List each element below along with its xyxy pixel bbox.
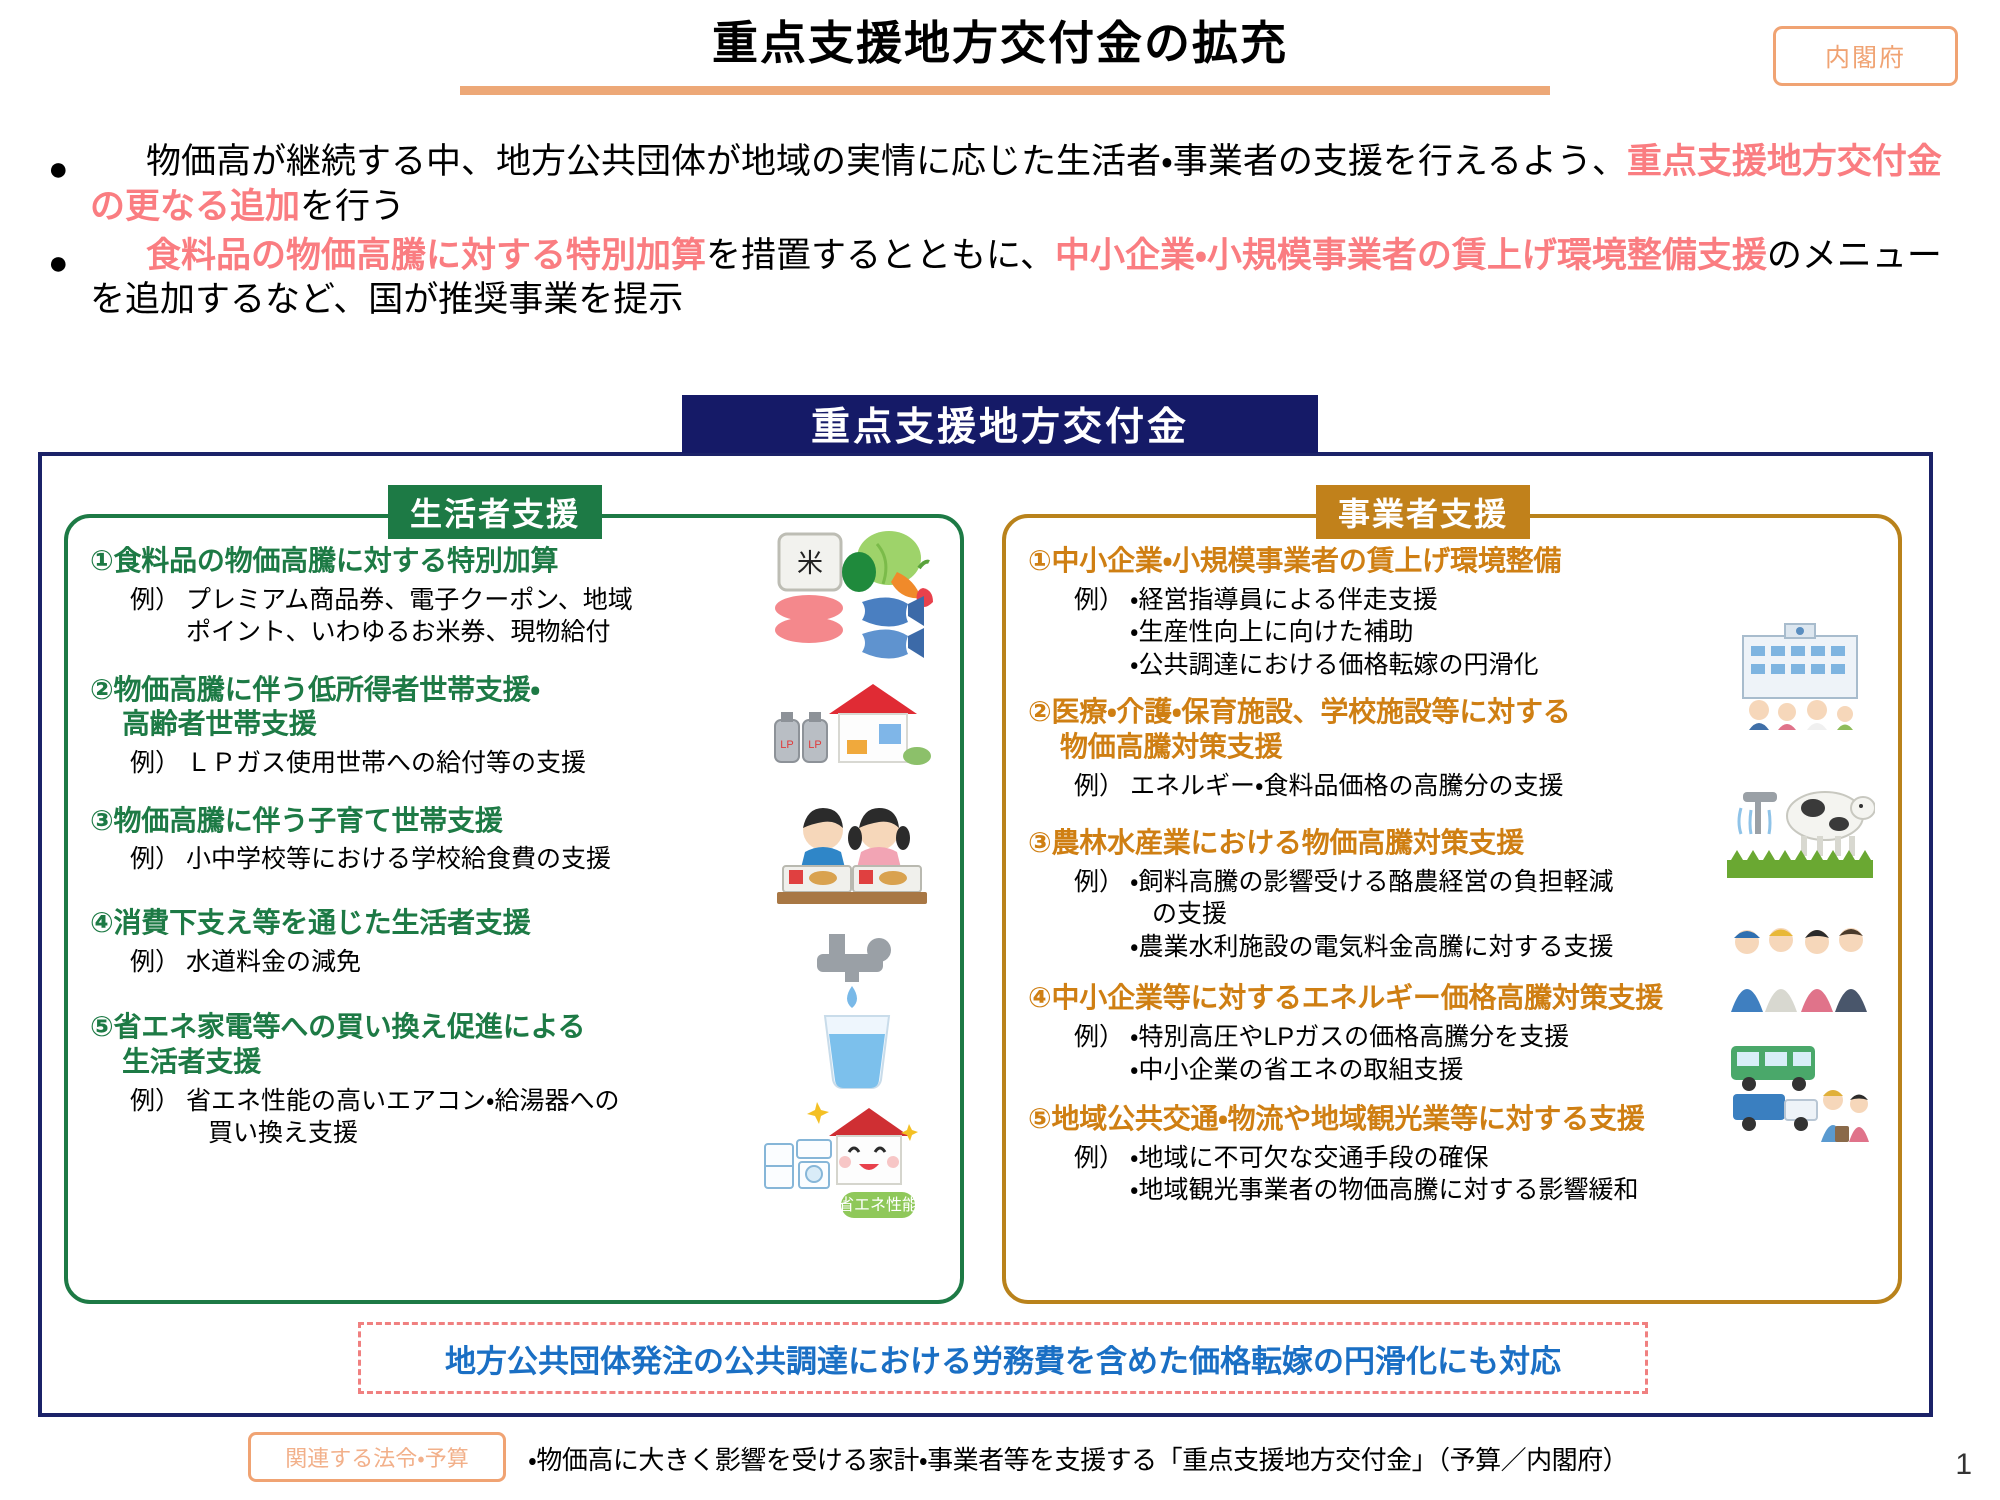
item-title-line1: ③物価高騰に伴う子育て世帯支援	[90, 805, 503, 836]
example-line: ＬＰガス使用世帯への給付等の支援	[186, 747, 586, 780]
column-business-support: 事業者支援 ①中小企業・小規模事業者の賃上げ環境整備 例） ・経営指導員による伴…	[1002, 514, 1902, 1304]
example-line: 小中学校等における学校給食費の支援	[186, 843, 611, 876]
column-body-left: ①食料品の物価高騰に対する特別加算 例） プレミアム商品券、電子クーポン、地域 …	[68, 518, 960, 1300]
example-lines: プレミアム商品券、電子クーポン、地域 ポイント、いわゆるお米券、現物給付	[180, 584, 633, 649]
bullet-item-1: ● 物価高が継続する中、地方公共団体が地域の実情に応じた生活者・事業者の支援を行…	[38, 140, 1968, 230]
example-line: ・経営指導員による伴走支援	[1130, 584, 1539, 617]
example-lines: ・地域に不可欠な交通手段の確保 ・地域観光事業者の物価高騰に対する影響緩和	[1124, 1142, 1639, 1207]
example-line: ポイント、いわゆるお米券、現物給付	[186, 616, 633, 649]
bullet-1-seg-1: 物価高が継続する中、地方公共団体が地域の実情に応じた生活者・事業者の支援を行える…	[146, 142, 1627, 181]
list-item: ②医療・介護・保育施設、学校施設等に対する 物価高騰対策支援 例） エネルギー・…	[1028, 695, 1878, 802]
list-item: ②物価高騰に伴う低所得者世帯支援・ 高齢者世帯支援 例） ＬＰガス使用世帯への給…	[90, 673, 940, 780]
bullet-2-seg-2: を措置するとともに、	[706, 236, 1055, 275]
page-title: 重点支援地方交付金の拡充	[0, 18, 2000, 69]
example-label: 例）	[90, 584, 180, 649]
example-line: ・公共調達における価格転嫁の円滑化	[1130, 649, 1539, 682]
item-title-line2: 高齢者世帯支援	[90, 707, 940, 742]
example-line: ・生産性向上に向けた補助	[1130, 616, 1539, 649]
list-item: ④中小企業等に対するエネルギー価格高騰対策支援 例） ・特別高圧やLPガスの価格…	[1028, 981, 1878, 1086]
bottom-note-box: 地方公共団体発注の公共調達における労務費を含めた価格転嫁の円滑化にも対応	[358, 1322, 1648, 1394]
example-line: 省エネ性能の高いエアコン・給湯器への	[186, 1085, 620, 1118]
example-line: ・農業水利施設の電気料金高騰に対する支援	[1130, 931, 1614, 964]
example-line: プレミアム商品券、電子クーポン、地域	[186, 584, 633, 617]
example-line: 買い換え支援	[186, 1117, 620, 1150]
example-block: 例） 省エネ性能の高いエアコン・給湯器への 買い換え支援	[90, 1085, 940, 1150]
bullet-text-1: 物価高が継続する中、地方公共団体が地域の実情に応じた生活者・事業者の支援を行える…	[90, 140, 1968, 230]
column-body-right: ①中小企業・小規模事業者の賃上げ環境整備 例） ・経営指導員による伴走支援 ・生…	[1006, 518, 1898, 1300]
column-tab-business-support: 事業者支援	[1316, 485, 1530, 539]
bullet-text-2: 食料品の物価高騰に対する特別加算を措置するとともに、中小企業・小規模事業者の賃上…	[90, 234, 1968, 324]
example-label: 例）	[1028, 584, 1124, 682]
list-item: ③物価高騰に伴う子育て世帯支援 例） 小中学校等における学校給食費の支援	[90, 804, 940, 876]
example-line: ・飼料高騰の影響受ける酪農経営の負担軽減	[1130, 866, 1614, 899]
column-resident-support: 生活者支援 ①食料品の物価高騰に対する特別加算 例） プレミアム商品券、電子クー…	[64, 514, 964, 1304]
example-line: ・中小企業の省エネの取組支援	[1130, 1054, 1569, 1087]
item-title-line1: ⑤地域公共交通・物流や地域観光業等に対する支援	[1028, 1103, 1645, 1134]
example-block: 例） プレミアム商品券、電子クーポン、地域 ポイント、いわゆるお米券、現物給付	[90, 584, 940, 649]
grant-outer-frame: 生活者支援 ①食料品の物価高騰に対する特別加算 例） プレミアム商品券、電子クー…	[38, 452, 1933, 1417]
example-lines: ＬＰガス使用世帯への給付等の支援	[180, 747, 586, 780]
item-title-line1: ②医療・介護・保育施設、学校施設等に対する	[1028, 696, 1571, 727]
example-lines: 小中学校等における学校給食費の支援	[180, 843, 611, 876]
bullet-2-seg-3: 中小企業・小規模事業者の賃上げ環境整備支援	[1055, 236, 1767, 275]
example-lines: 水道料金の減免	[180, 946, 361, 979]
example-label: 例）	[90, 1085, 180, 1150]
example-block: 例） ・経営指導員による伴走支援 ・生産性向上に向けた補助 ・公共調達における価…	[1028, 584, 1878, 682]
example-line: ・地域に不可欠な交通手段の確保	[1130, 1142, 1639, 1175]
bottom-note-text: 地方公共団体発注の公共調達における労務費を含めた価格転嫁の円滑化にも対応	[445, 1336, 1561, 1381]
list-item: ①中小企業・小規模事業者の賃上げ環境整備 例） ・経営指導員による伴走支援 ・生…	[1028, 544, 1878, 681]
item-title-line1: ④中小企業等に対するエネルギー価格高騰対策支援	[1028, 982, 1663, 1013]
item-title: ③農林水産業における物価高騰対策支援	[1028, 826, 1878, 861]
footer-text: ・物価高に大きく影響を受ける家計・事業者等を支援する「重点支援地方交付金」（予算…	[528, 1440, 1628, 1477]
example-block: 例） ・地域に不可欠な交通手段の確保 ・地域観光事業者の物価高騰に対する影響緩和	[1028, 1142, 1878, 1207]
item-title: ①食料品の物価高騰に対する特別加算	[90, 544, 940, 579]
title-underline-rule	[460, 86, 1550, 95]
example-lines: ・特別高圧やLPガスの価格高騰分を支援 ・中小企業の省エネの取組支援	[1124, 1021, 1569, 1086]
item-title-line1: ③農林水産業における物価高騰対策支援	[1028, 827, 1524, 858]
example-line: エネルギー・食料品価格の高騰分の支援	[1130, 770, 1564, 803]
item-title: ⑤地域公共交通・物流や地域観光業等に対する支援	[1028, 1102, 1878, 1137]
example-lines: 省エネ性能の高いエアコン・給湯器への 買い換え支援	[180, 1085, 620, 1150]
page-number: 1	[1955, 1448, 1972, 1482]
bullet-1-seg-3: を行う	[300, 187, 405, 226]
list-item: ①食料品の物価高騰に対する特別加算 例） プレミアム商品券、電子クーポン、地域 …	[90, 544, 940, 649]
example-label: 例）	[90, 747, 180, 780]
example-line: ・特別高圧やLPガスの価格高騰分を支援	[1130, 1021, 1569, 1054]
example-block: 例） 小中学校等における学校給食費の支援	[90, 843, 940, 876]
bullet-item-2: ● 食料品の物価高騰に対する特別加算を措置するとともに、中小企業・小規模事業者の…	[38, 234, 1968, 324]
example-line: 水道料金の減免	[186, 946, 361, 979]
item-title-line1: ②物価高騰に伴う低所得者世帯支援・	[90, 674, 540, 705]
item-title-line1: ④消費下支え等を通じた生活者支援	[90, 907, 531, 938]
example-block: 例） エネルギー・食料品価格の高騰分の支援	[1028, 770, 1878, 803]
item-title: ④中小企業等に対するエネルギー価格高騰対策支援	[1028, 981, 1878, 1016]
agency-badge: 内閣府	[1773, 26, 1958, 86]
list-item: ④消費下支え等を通じた生活者支援 例） 水道料金の減免	[90, 906, 940, 978]
item-title-line2: 物価高騰対策支援	[1028, 730, 1878, 765]
item-title-line1: ⑤省エネ家電等への買い換え促進による	[90, 1011, 585, 1042]
item-title-line2: 生活者支援	[90, 1045, 940, 1080]
example-lines: ・飼料高騰の影響受ける酪農経営の負担軽減 の支援 ・農業水利施設の電気料金高騰に…	[1124, 866, 1614, 964]
list-item: ③農林水産業における物価高騰対策支援 例） ・飼料高騰の影響受ける酪農経営の負担…	[1028, 826, 1878, 963]
item-title: ②物価高騰に伴う低所得者世帯支援・ 高齢者世帯支援	[90, 673, 940, 742]
item-title: ⑤省エネ家電等への買い換え促進による 生活者支援	[90, 1010, 940, 1079]
bullet-list: ● 物価高が継続する中、地方公共団体が地域の実情に応じた生活者・事業者の支援を行…	[38, 140, 1968, 327]
grant-banner: 重点支援地方交付金	[682, 395, 1318, 453]
example-line: ・地域観光事業者の物価高騰に対する影響緩和	[1130, 1174, 1639, 1207]
bullet-dot-icon: ●	[38, 234, 90, 292]
example-block: 例） ・飼料高騰の影響受ける酪農経営の負担軽減 の支援 ・農業水利施設の電気料金…	[1028, 866, 1878, 964]
bullet-dot-icon: ●	[38, 140, 90, 198]
list-item: ⑤地域公共交通・物流や地域観光業等に対する支援 例） ・地域に不可欠な交通手段の…	[1028, 1102, 1878, 1207]
example-lines: ・経営指導員による伴走支援 ・生産性向上に向けた補助 ・公共調達における価格転嫁…	[1124, 584, 1539, 682]
example-block: 例） ＬＰガス使用世帯への給付等の支援	[90, 747, 940, 780]
list-item: ⑤省エネ家電等への買い換え促進による 生活者支援 例） 省エネ性能の高いエアコン…	[90, 1010, 940, 1149]
example-label: 例）	[1028, 1021, 1124, 1086]
page-title-wrap: 重点支援地方交付金の拡充	[0, 18, 2000, 69]
example-label: 例）	[90, 843, 180, 876]
column-tab-resident-support: 生活者支援	[388, 485, 602, 539]
example-block: 例） ・特別高圧やLPガスの価格高騰分を支援 ・中小企業の省エネの取組支援	[1028, 1021, 1878, 1086]
example-block: 例） 水道料金の減免	[90, 946, 940, 979]
item-title: ②医療・介護・保育施設、学校施設等に対する 物価高騰対策支援	[1028, 695, 1878, 764]
example-lines: エネルギー・食料品価格の高騰分の支援	[1124, 770, 1564, 803]
example-line: の支援	[1130, 898, 1614, 931]
bullet-2-seg-1: 食料品の物価高騰に対する特別加算	[146, 236, 706, 275]
example-label: 例）	[1028, 866, 1124, 964]
svg-text:省エネ性能: 省エネ性能	[838, 1196, 918, 1214]
example-label: 例）	[90, 946, 180, 979]
example-label: 例）	[1028, 770, 1124, 803]
footer-badge-related-laws: 関連する法令・予算	[248, 1432, 506, 1482]
item-title: ③物価高騰に伴う子育て世帯支援	[90, 804, 940, 839]
example-label: 例）	[1028, 1142, 1124, 1207]
slide-page: 重点支援地方交付金の拡充 内閣府 ● 物価高が継続する中、地方公共団体が地域の実…	[0, 0, 2000, 1500]
item-title-line1: ①食料品の物価高騰に対する特別加算	[90, 545, 558, 576]
item-title: ④消費下支え等を通じた生活者支援	[90, 906, 940, 941]
item-title-line1: ①中小企業・小規模事業者の賃上げ環境整備	[1028, 545, 1561, 576]
item-title: ①中小企業・小規模事業者の賃上げ環境整備	[1028, 544, 1878, 579]
